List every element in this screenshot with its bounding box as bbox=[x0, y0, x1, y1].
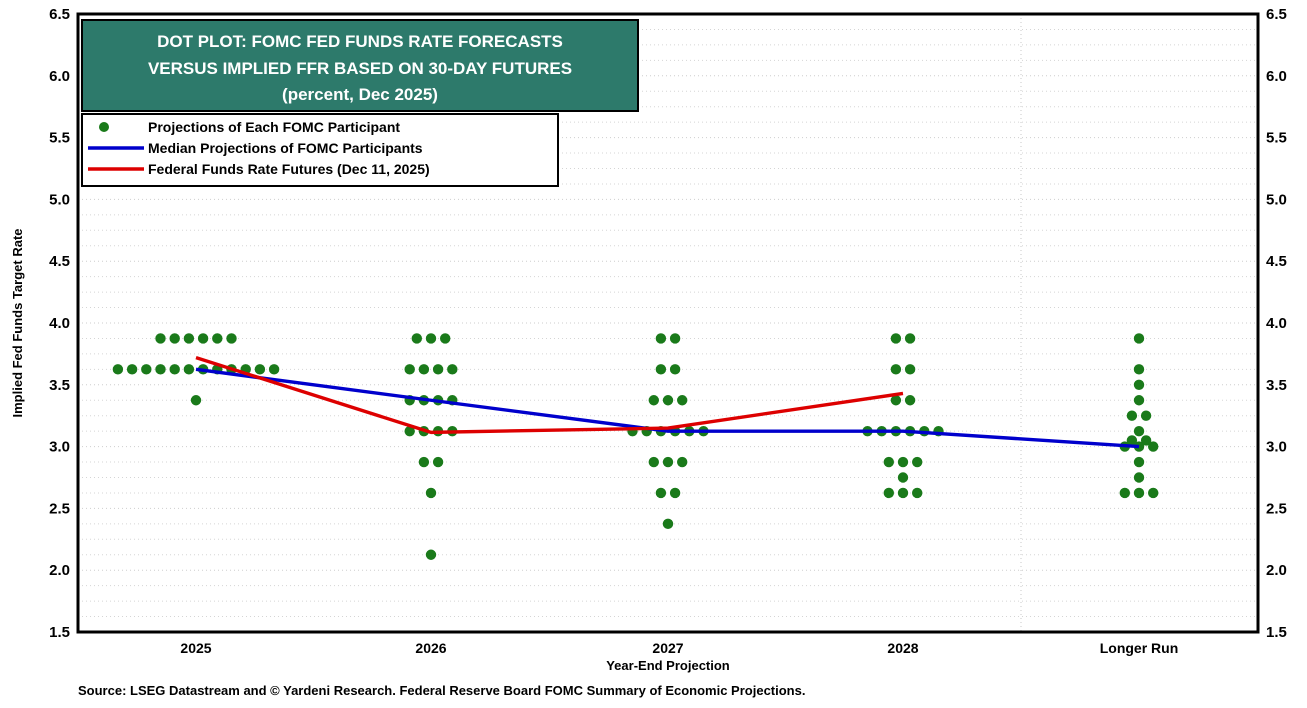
projection-dot bbox=[1120, 488, 1130, 498]
projection-dot bbox=[898, 488, 908, 498]
title-line3: (percent, Dec 2025) bbox=[282, 85, 438, 104]
projection-dot bbox=[905, 395, 915, 405]
x-tick-label: 2025 bbox=[180, 640, 211, 656]
y-tick-label-left: 2.5 bbox=[49, 500, 70, 517]
y-tick-label-right: 6.0 bbox=[1266, 68, 1287, 85]
x-tick-label: 2028 bbox=[887, 640, 918, 656]
projection-dot bbox=[212, 333, 222, 343]
projection-dot bbox=[677, 457, 687, 467]
y-tick-label-left: 5.0 bbox=[49, 191, 70, 208]
projection-dot bbox=[155, 333, 165, 343]
projection-dot bbox=[255, 364, 265, 374]
y-tick-label-left: 6.5 bbox=[49, 6, 70, 23]
projection-dot bbox=[191, 395, 201, 405]
projection-dot bbox=[898, 472, 908, 482]
projection-dot bbox=[113, 364, 123, 374]
projection-dot bbox=[912, 457, 922, 467]
projection-dot bbox=[419, 457, 429, 467]
x-tick-label: Longer Run bbox=[1100, 640, 1179, 656]
projection-dot bbox=[1134, 472, 1144, 482]
y-tick-label-left: 4.0 bbox=[49, 315, 70, 332]
legend-label: Median Projections of FOMC Participants bbox=[148, 140, 423, 156]
projection-dot bbox=[127, 364, 137, 374]
projection-dot bbox=[656, 364, 666, 374]
projection-dot bbox=[170, 364, 180, 374]
y-tick-label-right: 5.5 bbox=[1266, 130, 1287, 147]
projection-dot bbox=[1148, 441, 1158, 451]
projection-dot bbox=[226, 333, 236, 343]
projection-dot bbox=[884, 488, 894, 498]
legend-dot-icon bbox=[99, 122, 109, 132]
projection-dot bbox=[1134, 395, 1144, 405]
projection-dot bbox=[269, 364, 279, 374]
projection-dot bbox=[426, 488, 436, 498]
chart-page: 1.51.52.02.02.52.53.03.03.53.54.04.04.54… bbox=[0, 0, 1307, 708]
projection-dot bbox=[670, 488, 680, 498]
x-axis-title: Year-End Projection bbox=[606, 658, 730, 673]
y-tick-label-right: 1.5 bbox=[1266, 624, 1287, 641]
title-line2: VERSUS IMPLIED FFR BASED ON 30-DAY FUTUR… bbox=[148, 59, 572, 78]
y-axis-title: Implied Fed Funds Target Rate bbox=[10, 228, 25, 417]
projection-dot bbox=[405, 364, 415, 374]
projection-dot bbox=[170, 333, 180, 343]
projection-dot bbox=[198, 333, 208, 343]
dot-plot-chart: 1.51.52.02.02.52.53.03.03.53.54.04.04.54… bbox=[0, 0, 1307, 708]
projection-dot bbox=[912, 488, 922, 498]
projection-dot bbox=[141, 364, 151, 374]
projection-dot bbox=[670, 364, 680, 374]
projection-dot bbox=[1148, 488, 1158, 498]
projection-dot bbox=[433, 457, 443, 467]
projection-dot bbox=[1134, 333, 1144, 343]
y-tick-label-right: 3.5 bbox=[1266, 377, 1287, 394]
projection-dot bbox=[656, 333, 666, 343]
projection-dot bbox=[1134, 364, 1144, 374]
y-tick-label-left: 3.5 bbox=[49, 377, 70, 394]
title-line1: DOT PLOT: FOMC FED FUNDS RATE FORECASTS bbox=[157, 32, 563, 51]
y-tick-label-right: 6.5 bbox=[1266, 6, 1287, 23]
y-tick-label-left: 4.5 bbox=[49, 253, 70, 270]
projection-dot bbox=[433, 364, 443, 374]
projection-dot bbox=[412, 333, 422, 343]
y-tick-label-right: 4.0 bbox=[1266, 315, 1287, 332]
x-tick-label: 2026 bbox=[415, 640, 446, 656]
y-tick-label-left: 1.5 bbox=[49, 624, 70, 641]
y-tick-label-right: 3.0 bbox=[1266, 439, 1287, 456]
projection-dot bbox=[663, 519, 673, 529]
projection-dot bbox=[663, 395, 673, 405]
projection-dot bbox=[670, 333, 680, 343]
source-note: Source: LSEG Datastream and © Yardeni Re… bbox=[78, 683, 805, 698]
y-tick-label-right: 4.5 bbox=[1266, 253, 1287, 270]
projection-dot bbox=[1141, 411, 1151, 421]
y-tick-label-right: 5.0 bbox=[1266, 191, 1287, 208]
projection-dot bbox=[677, 395, 687, 405]
x-tick-label: 2027 bbox=[652, 640, 683, 656]
y-tick-label-right: 2.0 bbox=[1266, 562, 1287, 579]
y-tick-label-left: 5.5 bbox=[49, 130, 70, 147]
projection-dot bbox=[184, 333, 194, 343]
projection-dot bbox=[447, 364, 457, 374]
projection-dot bbox=[440, 333, 450, 343]
legend-label: Projections of Each FOMC Participant bbox=[148, 119, 400, 135]
projection-dot bbox=[649, 457, 659, 467]
projection-dot bbox=[426, 333, 436, 343]
y-tick-label-left: 6.0 bbox=[49, 68, 70, 85]
projection-dot bbox=[426, 550, 436, 560]
projection-dot bbox=[1134, 426, 1144, 436]
projection-dot bbox=[1127, 411, 1137, 421]
projection-dot bbox=[891, 333, 901, 343]
legend-label: Federal Funds Rate Futures (Dec 11, 2025… bbox=[148, 161, 430, 177]
y-tick-label-left: 3.0 bbox=[49, 439, 70, 456]
projection-dot bbox=[905, 333, 915, 343]
projection-dot bbox=[1134, 457, 1144, 467]
projection-dot bbox=[891, 364, 901, 374]
y-tick-label-right: 2.5 bbox=[1266, 500, 1287, 517]
projection-dot bbox=[1134, 488, 1144, 498]
projection-dot bbox=[663, 457, 673, 467]
projection-dot bbox=[905, 364, 915, 374]
projection-dot bbox=[184, 364, 194, 374]
projection-dot bbox=[419, 364, 429, 374]
projection-dot bbox=[656, 488, 666, 498]
y-tick-label-left: 2.0 bbox=[49, 562, 70, 579]
projection-dot bbox=[898, 457, 908, 467]
projection-dot bbox=[1134, 380, 1144, 390]
projection-dot bbox=[884, 457, 894, 467]
projection-dot bbox=[155, 364, 165, 374]
projection-dot bbox=[649, 395, 659, 405]
